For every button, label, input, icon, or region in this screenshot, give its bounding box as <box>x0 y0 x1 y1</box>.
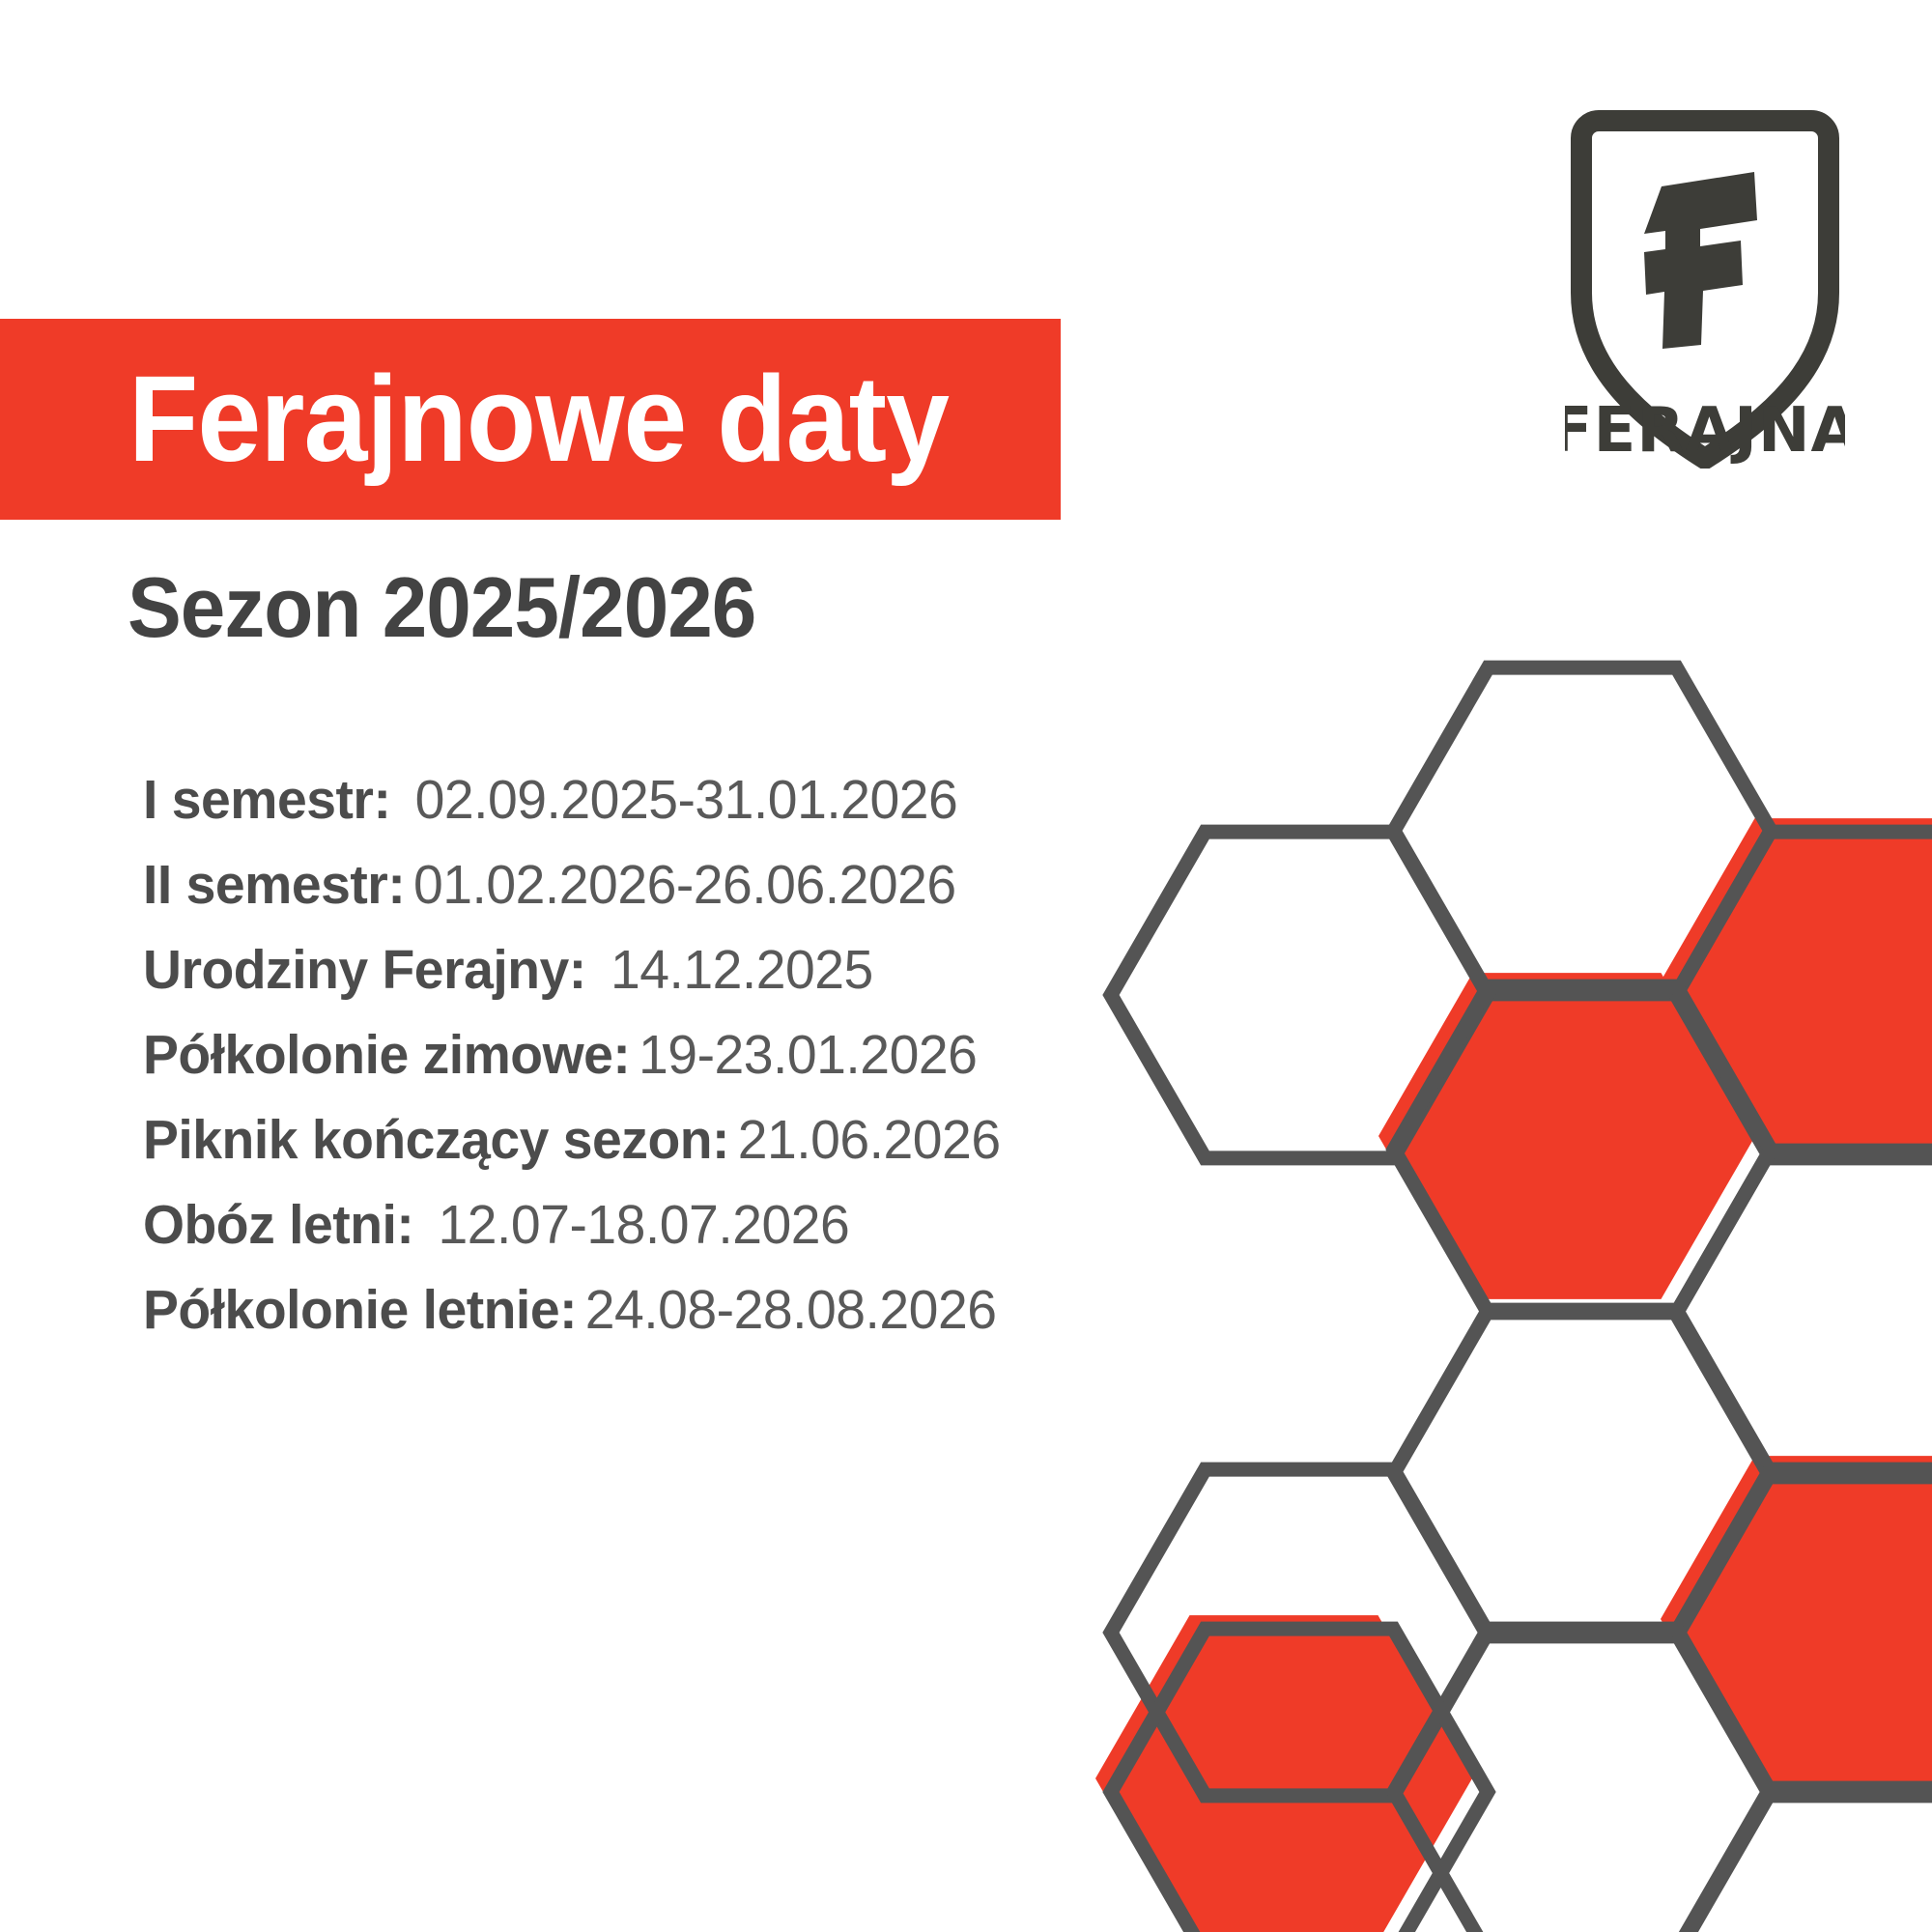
date-value: 24.08-28.08.2026 <box>585 1279 997 1341</box>
date-value: 01.02.2026-26.06.2026 <box>413 854 956 916</box>
date-row: Półkolonie zimowe:19-23.01.2026 <box>143 1028 1174 1083</box>
date-row: Urodziny Ferajny:14.12.2025 <box>143 943 1174 998</box>
hexagon-fill-group <box>1095 818 1932 1932</box>
date-label: Półkolonie zimowe: <box>143 1024 630 1086</box>
date-label: I semestr: <box>143 769 390 831</box>
season-subtitle: Sezon 2025/2026 <box>128 565 755 650</box>
date-row: II semestr:01.02.2026-26.06.2026 <box>143 858 1174 913</box>
ferajna-logo: FERAJNA <box>1565 92 1845 469</box>
page-title: Ferajnowe daty <box>128 358 949 480</box>
date-row: Piknik kończący sezon:21.06.2026 <box>143 1113 1174 1168</box>
date-value: 14.12.2025 <box>611 939 873 1001</box>
date-row: Obóz letni:12.07-18.07.2026 <box>143 1198 1174 1253</box>
dates-list: I semestr:02.09.2025-31.01.2026II semest… <box>143 773 1206 1368</box>
date-label: II semestr: <box>143 854 405 916</box>
date-label: Półkolonie letnie: <box>143 1279 577 1341</box>
date-row: Półkolonie letnie:24.08-28.08.2026 <box>143 1283 1174 1338</box>
logo-wordmark: FERAJNA <box>1565 395 1845 467</box>
hexagon-outline-group <box>1111 668 1932 1932</box>
date-row: I semestr:02.09.2025-31.01.2026 <box>143 773 1174 828</box>
date-label: Urodziny Ferajny: <box>143 939 586 1001</box>
date-label: Obóz letni: <box>143 1194 413 1256</box>
poster-canvas: FERAJNA Ferajnowe daty Sezon 2025/2026 I… <box>0 0 1932 1932</box>
date-value: 12.07-18.07.2026 <box>439 1194 850 1256</box>
f-monogram-icon <box>1644 172 1757 349</box>
date-value: 19-23.01.2026 <box>639 1024 977 1086</box>
date-value: 21.06.2026 <box>738 1109 1001 1171</box>
date-label: Piknik kończący sezon: <box>143 1109 729 1171</box>
date-value: 02.09.2025-31.01.2026 <box>415 769 958 831</box>
title-banner: Ferajnowe daty <box>0 319 1061 520</box>
ferajna-shield-logo: FERAJNA <box>1565 92 1845 469</box>
